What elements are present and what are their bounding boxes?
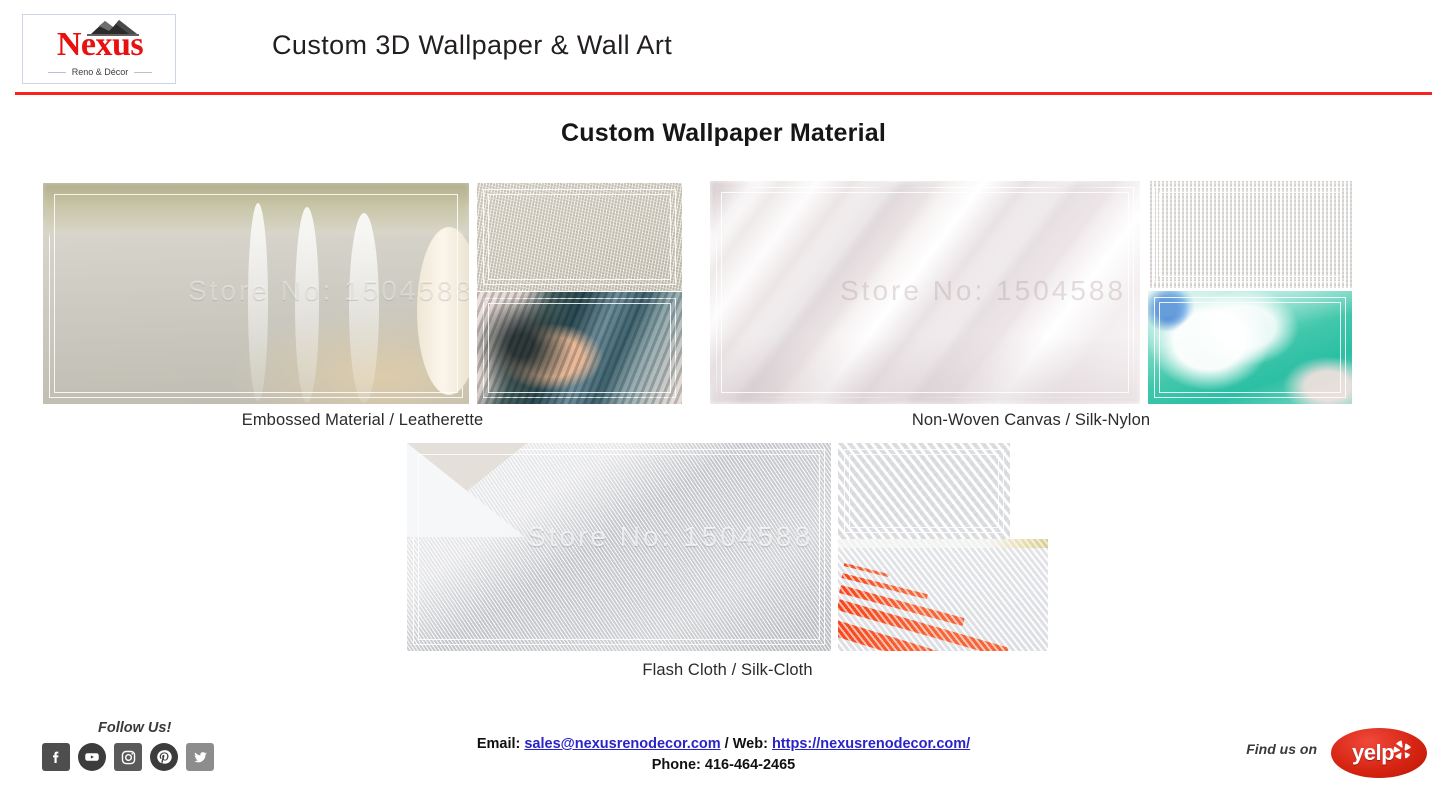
page-header: Nexus Reno & Décor Custom 3D Wallpaper &… <box>0 0 1447 96</box>
email-label: Email: <box>477 736 521 752</box>
roll-edge-3 <box>248 203 268 401</box>
tagline-rule-left <box>48 72 66 73</box>
material-image-nonwoven-thumb-bottom[interactable] <box>1148 291 1352 404</box>
brand-tagline: Reno & Décor <box>72 67 129 77</box>
caption-flashcloth: Flash Cloth / Silk-Cloth <box>407 661 1048 680</box>
phone-number: 416-464-2465 <box>705 757 795 773</box>
caption-embossed: Embossed Material / Leatherette <box>43 411 682 430</box>
caption-nonwoven: Non-Woven Canvas / Silk-Nylon <box>710 411 1352 430</box>
brand-tagline-row: Reno & Décor <box>23 67 177 77</box>
header-divider <box>15 92 1432 95</box>
mesh-dot-overlay <box>838 539 1048 651</box>
web-label: Web: <box>733 736 768 752</box>
contact-line-2: Phone: 416-464-2465 <box>0 755 1447 776</box>
floral-print-texture <box>477 292 682 404</box>
website-link[interactable]: https://nexusrenodecor.com/ <box>772 736 970 752</box>
cloth-diagonal-sheen <box>407 443 831 651</box>
roll-lip-1 <box>417 227 469 395</box>
brand-logo[interactable]: Nexus Reno & Décor <box>22 14 176 84</box>
silk-fold-shading <box>710 181 1140 404</box>
material-image-embossed-main[interactable]: Store No: 1504588 <box>43 183 469 404</box>
material-image-flashcloth-thumb-top[interactable] <box>838 443 1010 539</box>
find-us-on-label: Find us on <box>1246 741 1317 757</box>
page-title: Custom Wallpaper Material <box>0 119 1447 148</box>
contact-line-1: Email: sales@nexusrenodecor.com / Web: h… <box>0 734 1447 755</box>
material-image-flashcloth-main[interactable]: Store No: 1504588 <box>407 443 831 651</box>
email-link[interactable]: sales@nexusrenodecor.com <box>524 736 720 752</box>
brand-wordmark: Nexus <box>23 28 177 62</box>
contact-separator: / <box>725 736 729 752</box>
contact-info: Email: sales@nexusrenodecor.com / Web: h… <box>0 734 1447 776</box>
roll-edge-2 <box>295 207 319 403</box>
tagline-rule-right <box>134 72 152 73</box>
material-image-nonwoven-main[interactable]: Store No: 1504588 <box>710 181 1140 404</box>
material-image-flashcloth-thumb-bottom[interactable] <box>838 539 1048 651</box>
floral-sheen <box>1148 291 1352 404</box>
yelp-burst-icon <box>1391 738 1413 760</box>
material-image-embossed-thumb-bottom[interactable] <box>477 292 682 404</box>
page-footer: Follow Us! Email: sales@nexusrenodecor.c… <box>0 706 1447 800</box>
header-title: Custom 3D Wallpaper & Wall Art <box>272 30 672 61</box>
material-image-nonwoven-thumb-top[interactable] <box>1148 181 1352 288</box>
roll-edge-1 <box>349 213 379 403</box>
phone-label: Phone: <box>652 757 701 773</box>
material-image-embossed-thumb-top[interactable] <box>477 183 682 291</box>
yelp-badge[interactable]: yelp <box>1331 728 1427 778</box>
yelp-wordmark: yelp <box>1352 740 1394 766</box>
